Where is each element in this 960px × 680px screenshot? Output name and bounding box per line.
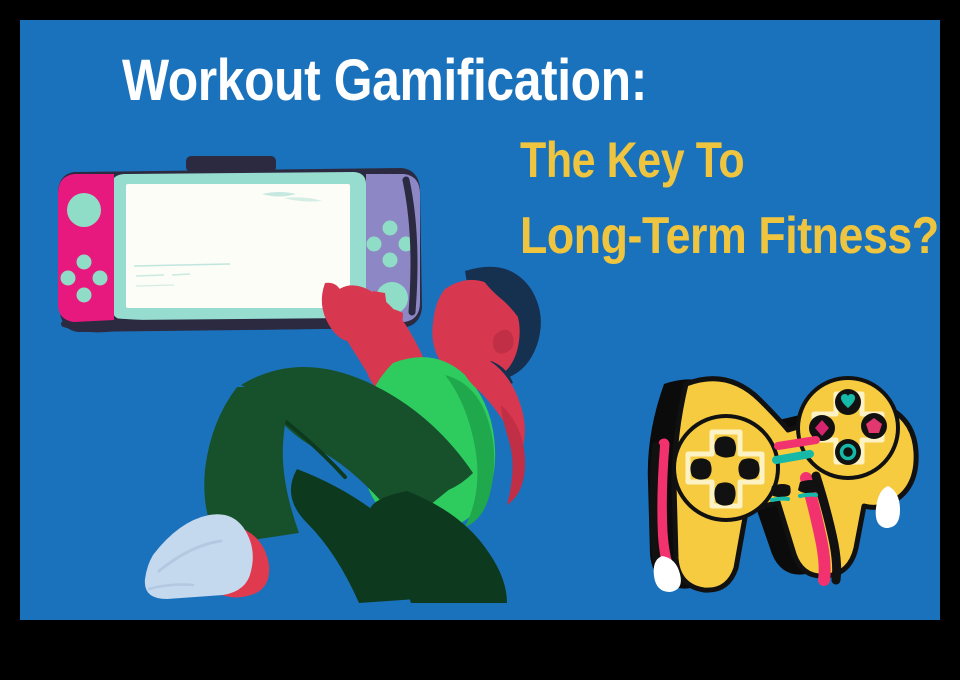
gamepad-button-pentagon[interactable] [861, 413, 887, 439]
left-dpad-right[interactable] [93, 271, 108, 286]
left-analog-stick[interactable] [67, 193, 101, 227]
right-button-x[interactable] [383, 221, 398, 236]
gamepad-select-underline [772, 499, 788, 500]
gamepad-button-circle[interactable] [835, 439, 861, 465]
gamepad-dpad-right[interactable] [738, 458, 759, 479]
left-dpad-left[interactable] [61, 271, 76, 286]
gamepad-start-button[interactable] [798, 480, 819, 493]
gamepad-select-button[interactable] [770, 484, 791, 497]
exercising-person-illustration [145, 255, 575, 605]
gamepad-dpad-down[interactable] [714, 482, 735, 505]
left-dpad-down[interactable] [77, 288, 92, 303]
page-title-line-1: Workout Gamification: [122, 52, 647, 110]
gamepad-dpad-left[interactable] [690, 458, 711, 479]
console-top-tab [186, 156, 276, 172]
gamepad-start-underline [800, 495, 816, 496]
page-title-line-3: Long-Term Fitness? [520, 210, 939, 262]
gamepad-dpad-up[interactable] [714, 436, 736, 457]
page-title-line-2: The Key To [520, 135, 744, 185]
game-controller-illustration [620, 360, 930, 620]
poster-frame: Workout Gamification: The Key To Long-Te… [0, 0, 960, 680]
left-dpad-up[interactable] [77, 255, 92, 270]
poster-canvas: Workout Gamification: The Key To Long-Te… [20, 20, 940, 620]
right-button-y[interactable] [367, 237, 382, 252]
gamepad-button-heart[interactable] [835, 389, 861, 415]
